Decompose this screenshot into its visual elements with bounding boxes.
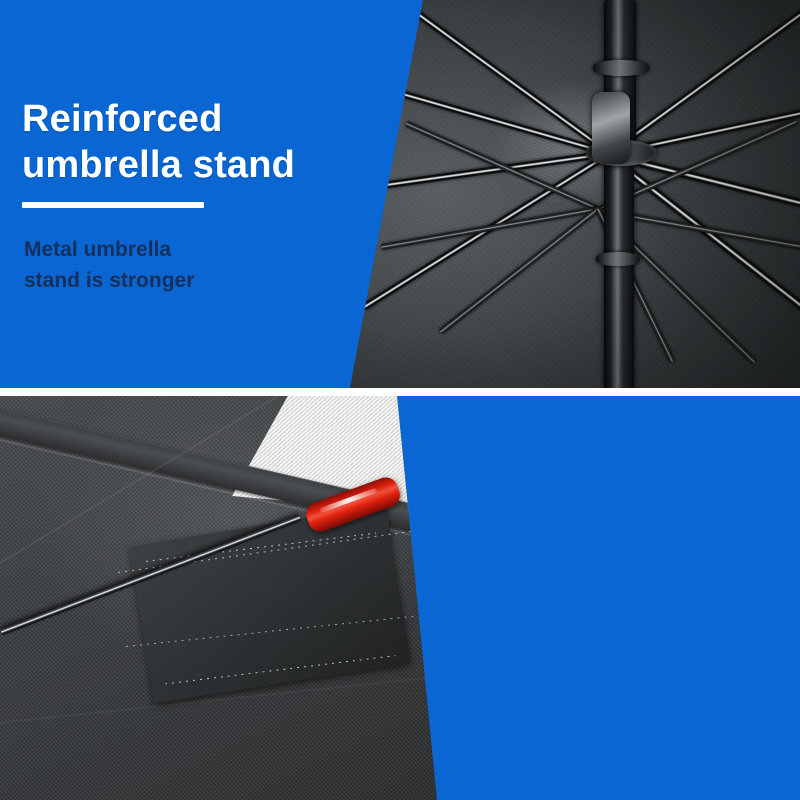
feature-panel-reinforced-umbrella-stand: Reinforced umbrella stand Metal umbrella…: [0, 0, 800, 388]
flap-stitching: [146, 533, 376, 562]
photo-vignette: [0, 0, 800, 388]
panel-subtitle-reinforced-umbrella-stand: Metal umbrella stand is stronger: [24, 234, 194, 296]
panel-title-reinforced-umbrella-stand: Reinforced umbrella stand: [22, 96, 295, 188]
umbrella-frame-photo: [0, 0, 800, 388]
car-cover-wrap-photo: [0, 396, 800, 800]
product-feature-poster: Reinforced umbrella stand Metal umbrella…: [0, 0, 800, 800]
feature-panel-wrap-design: Wrap design New and unique design Wrap d…: [0, 396, 800, 800]
title-underline-top: [22, 202, 204, 208]
